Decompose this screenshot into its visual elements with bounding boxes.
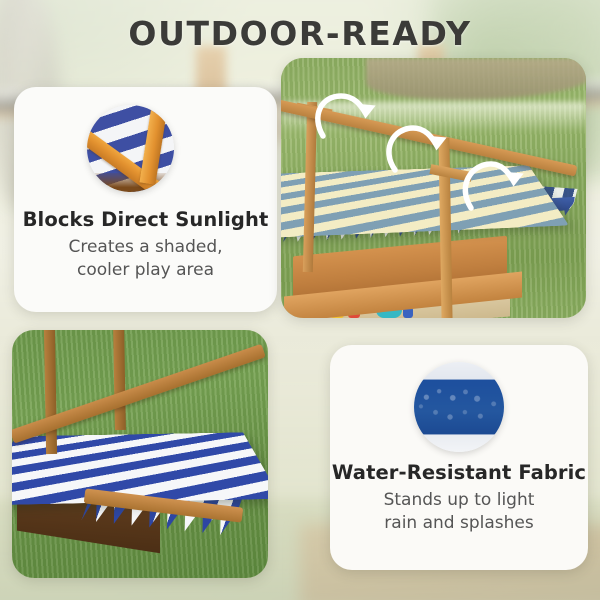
cover-post-right <box>113 330 126 430</box>
sunlight-closeup-image <box>87 105 174 192</box>
blue-fabric-droplets-texture <box>414 362 504 452</box>
feature-subtitle-sunlight-line1: Creates a shaded, <box>14 236 277 258</box>
feature-card-water-resistant-fabric: Water-Resistant Fabric Stands up to ligh… <box>330 345 588 570</box>
feature-text-block-water: Water-Resistant Fabric Stands up to ligh… <box>330 462 588 534</box>
closed-canopy-scene <box>12 330 268 578</box>
airflow-arrows-group <box>281 58 586 318</box>
photo-card-closed-canopy-cover <box>12 330 268 578</box>
sunlight-arrow-1 <box>318 96 365 136</box>
photo-card-sandbox-canopy-airflow <box>281 58 586 318</box>
feature-title-water: Water-Resistant Fabric <box>330 462 588 484</box>
feature-subtitle-sunlight-line2: cooler play area <box>14 259 277 281</box>
feature-card-blocks-direct-sunlight: Blocks Direct Sunlight Creates a shaded,… <box>14 87 277 312</box>
sunlight-arrow-2 <box>389 128 436 170</box>
feature-subtitle-water-line1: Stands up to light <box>330 489 588 511</box>
water-resistant-closeup-image <box>414 362 504 452</box>
feature-subtitle-water-line2: rain and splashes <box>330 512 588 534</box>
page-title: OUTDOOR-READY <box>0 14 600 53</box>
sandbox-airflow-scene <box>281 58 586 318</box>
feature-text-block-sunlight: Blocks Direct Sunlight Creates a shaded,… <box>14 209 277 281</box>
feature-title-sunlight: Blocks Direct Sunlight <box>14 209 277 231</box>
sunlight-arrow-3 <box>465 164 513 208</box>
